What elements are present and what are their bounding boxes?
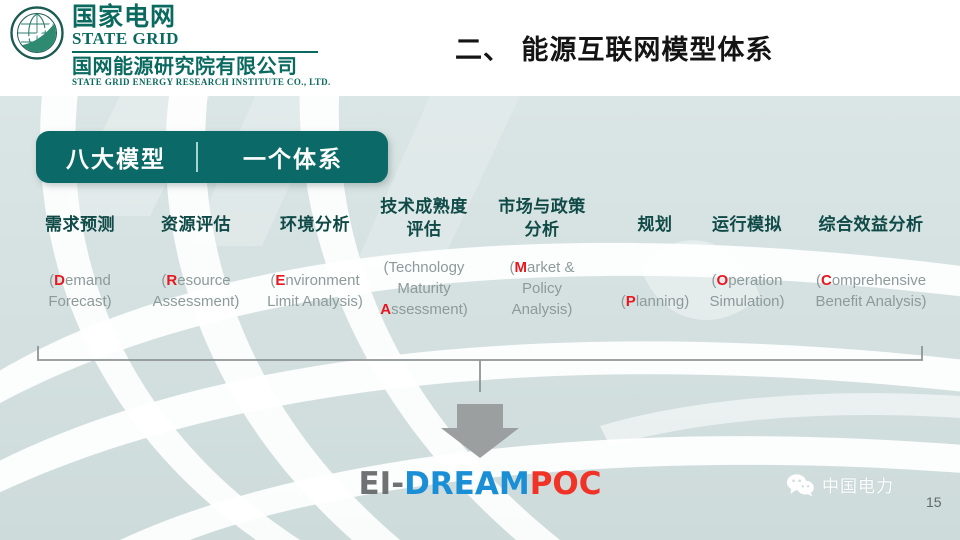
slide-header: 国家电网 STATE GRID 国网能源研究院有限公司 STATE GRID E… bbox=[0, 0, 960, 96]
model-columns: 需求预测 (Demand Forecast) 资源评估 (Resource As… bbox=[14, 204, 948, 344]
logo-cn-subtitle: 国网能源研究院有限公司 bbox=[72, 55, 331, 77]
banner-left-label: 八大模型 bbox=[66, 147, 166, 173]
model-column-0: 需求预测 (Demand Forecast) bbox=[20, 214, 140, 312]
logo-divider bbox=[72, 51, 318, 53]
model-en-label: (Technology Maturity Assessment) bbox=[364, 257, 484, 320]
banner-right: 一个体系 bbox=[198, 140, 388, 174]
eight-models-banner: 八大模型 一个体系 bbox=[36, 131, 388, 183]
banner-left: 八大模型 bbox=[36, 140, 196, 174]
state-grid-logo: 国家电网 STATE GRID 国网能源研究院有限公司 STATE GRID E… bbox=[8, 4, 331, 88]
brand-middle: DREAM bbox=[404, 466, 530, 502]
model-cn-label: 市场与政策 分析 bbox=[486, 196, 598, 242]
model-cn-label: 综合效益分析 bbox=[792, 214, 950, 237]
wechat-label: 中国电力 bbox=[822, 472, 894, 497]
slide: 国家电网 STATE GRID 国网能源研究院有限公司 STATE GRID E… bbox=[0, 0, 960, 540]
state-grid-emblem-icon bbox=[10, 6, 64, 60]
model-en-label: (Market & Policy Analysis) bbox=[486, 257, 598, 320]
logo-en-subtitle: STATE GRID ENERGY RESEARCH INSTITUTE CO.… bbox=[72, 77, 331, 88]
banner-divider bbox=[196, 142, 198, 172]
model-column-3: 技术成熟度 评估 (Technology Maturity Assessment… bbox=[364, 196, 484, 320]
model-cn-label: 技术成熟度 评估 bbox=[364, 196, 484, 242]
model-en-label: (Comprehensive Benefit Analysis) bbox=[792, 270, 950, 312]
logo-cn-name: 国家电网 bbox=[72, 4, 331, 30]
model-column-7: 综合效益分析 (Comprehensive Benefit Analysis) bbox=[792, 214, 950, 312]
logo-texts: 国家电网 STATE GRID 国网能源研究院有限公司 STATE GRID E… bbox=[72, 4, 331, 88]
wechat-icon bbox=[786, 473, 816, 497]
model-en-label: (Demand Forecast) bbox=[20, 270, 140, 312]
down-arrow-icon bbox=[441, 404, 519, 458]
slide-body: 八大模型 一个体系 需求预测 (Demand Forecast) 资源评估 bbox=[0, 96, 960, 540]
logo-en-name: STATE GRID bbox=[72, 30, 331, 48]
brand-suffix: POC bbox=[530, 466, 602, 502]
page-title: 二、 能源互联网模型体系 bbox=[455, 28, 875, 67]
page-number: 15 bbox=[926, 494, 942, 510]
brand-prefix: EI- bbox=[358, 466, 404, 502]
banner-right-label: 一个体系 bbox=[243, 147, 343, 173]
model-cn-label: 需求预测 bbox=[20, 214, 140, 237]
wechat-footer: 中国电力 bbox=[786, 472, 894, 497]
model-column-4: 市场与政策 分析 (Market & Policy Analysis) bbox=[486, 196, 598, 320]
